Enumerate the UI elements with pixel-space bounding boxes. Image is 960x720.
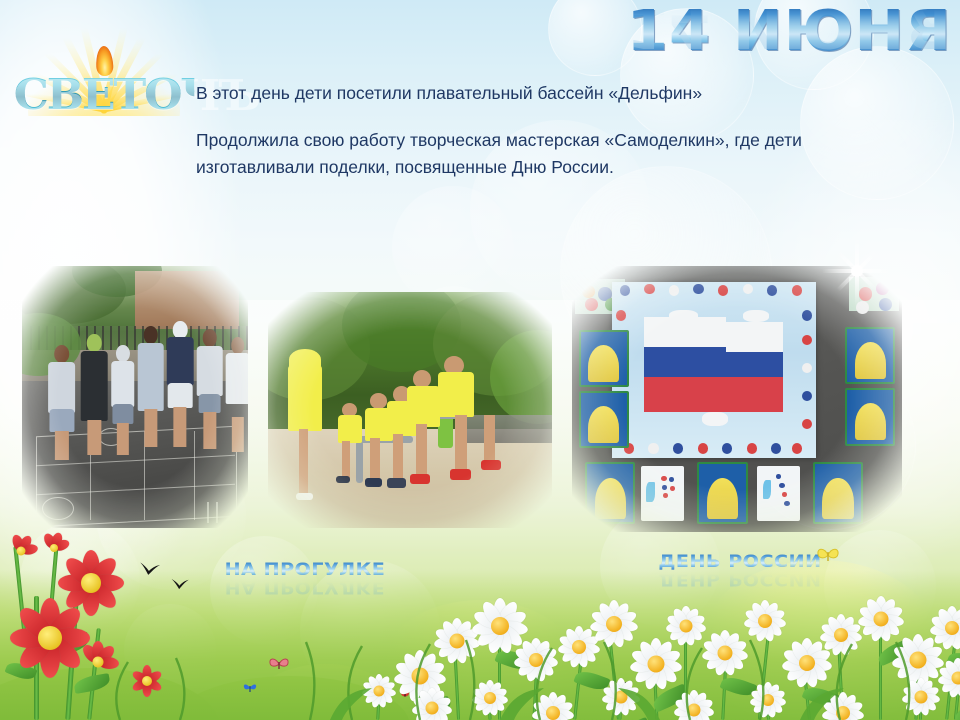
logo-wordmark: СВЕТОЧЪ: [14, 70, 195, 119]
photo-children-outdoors[interactable]: [22, 266, 248, 528]
logo: СВЕТОЧЪ: [18, 8, 190, 136]
butterfly-icon: [816, 546, 840, 567]
body-paragraph-1: В этот день дети посетили плавательный б…: [196, 80, 896, 107]
slide-body-text: В этот день дети посетили плавательный б…: [196, 80, 896, 201]
photo-children-playground[interactable]: [268, 292, 552, 528]
photo-craft-board[interactable]: [572, 266, 902, 532]
swallow-icon: [137, 560, 162, 581]
grass-blades: [0, 600, 960, 720]
russian-flag-craft: [612, 282, 817, 458]
page-title-reflection: 14 ИЮНЯ: [627, 0, 952, 54]
body-paragraph-2: Продолжила свою работу творческая мастер…: [196, 127, 896, 181]
swallow-icon: [169, 577, 189, 594]
photo1-child: [45, 345, 79, 460]
presentation-slide: СВЕТОЧЪ 14 ИЮНЯ 14 ИЮНЯ В этот день дети…: [0, 0, 960, 720]
